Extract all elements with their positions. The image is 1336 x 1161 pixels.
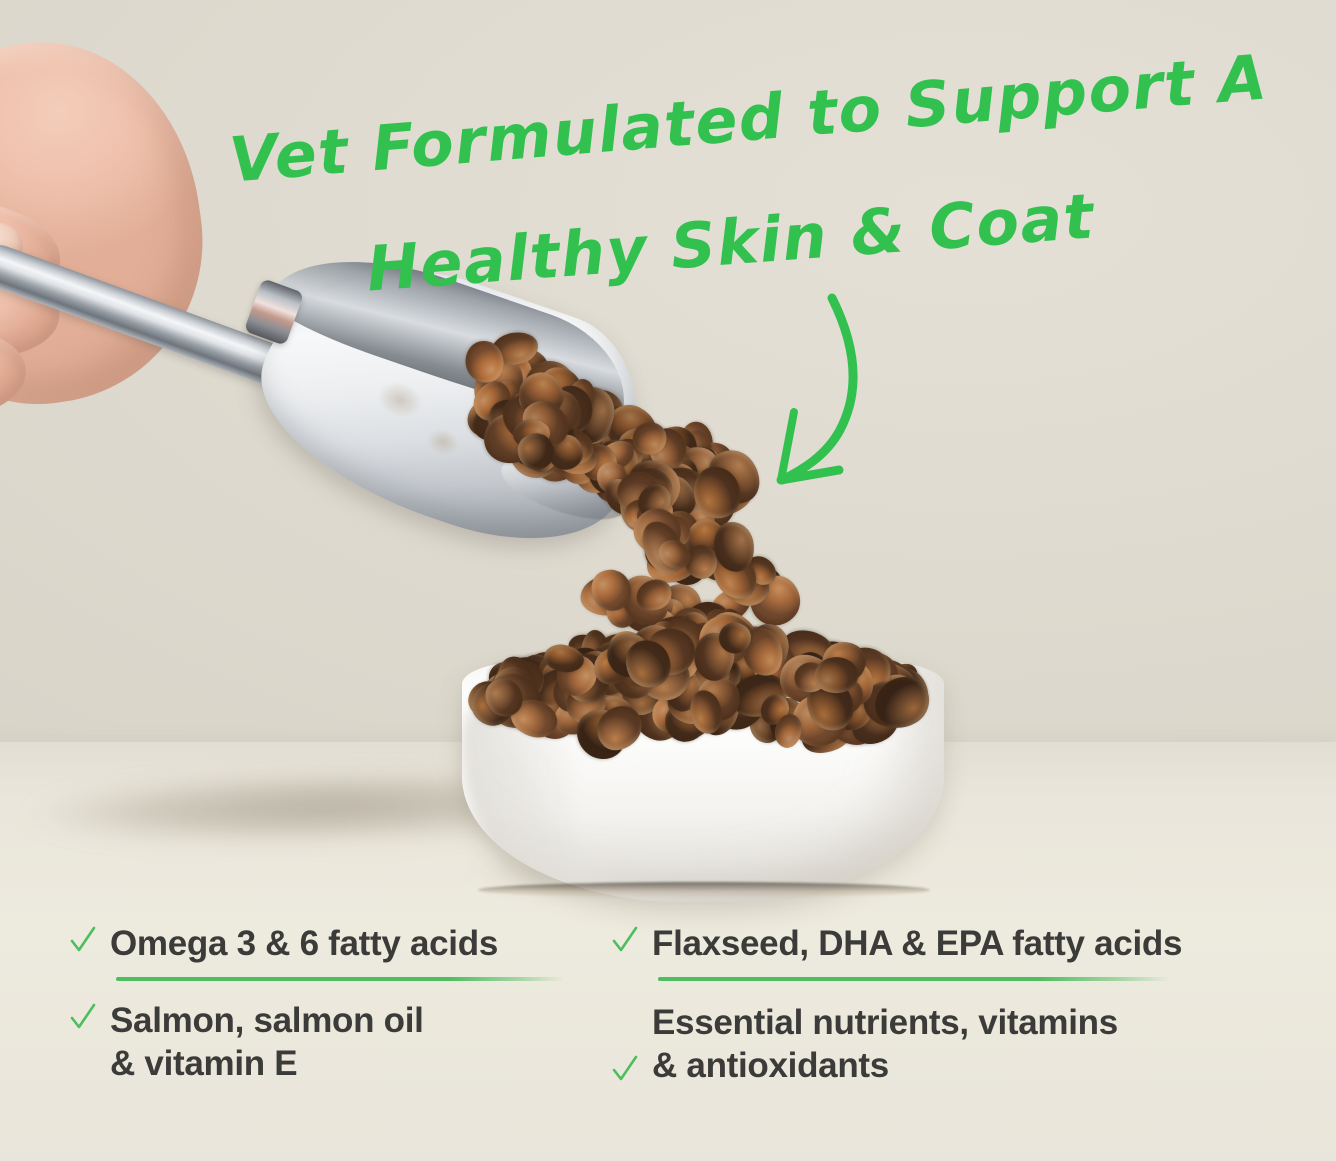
product-feature-graphic: Vet Formulated to Support A Healthy Skin… (0, 0, 1336, 1161)
kibble-in-bowl-layer (0, 0, 1336, 1161)
